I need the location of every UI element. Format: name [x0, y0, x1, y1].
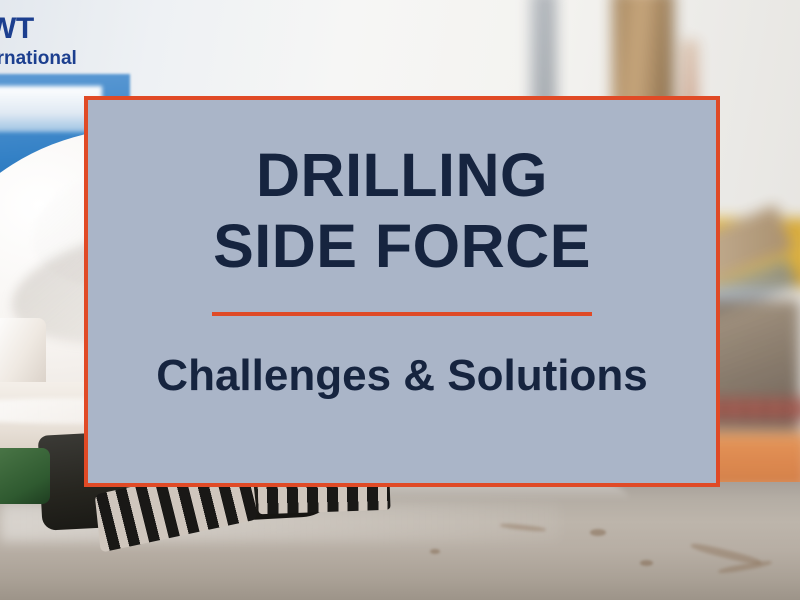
floor-stain: [590, 529, 606, 536]
floor-stain: [640, 560, 653, 566]
page-title: DRILLING SIDE FORCE: [213, 140, 591, 282]
page-subtitle: Challenges & Solutions: [156, 352, 647, 400]
title-line-1: DRILLING: [256, 141, 548, 209]
logo-subtitle-text: ernational: [0, 49, 124, 68]
title-line-2: SIDE FORCE: [213, 211, 591, 282]
title-card: DRILLING SIDE FORCE Challenges & Solutio…: [84, 96, 720, 487]
title-divider: [212, 312, 592, 316]
green-accessory: [0, 448, 50, 504]
hard-hat-clip: [0, 318, 46, 390]
company-logo: WT ernational: [0, 14, 124, 68]
logo-mark-text: WT: [0, 14, 124, 44]
slide-canvas: WT ernational DRILLING SIDE FORCE Challe…: [0, 0, 800, 600]
floor-stain: [430, 549, 440, 554]
